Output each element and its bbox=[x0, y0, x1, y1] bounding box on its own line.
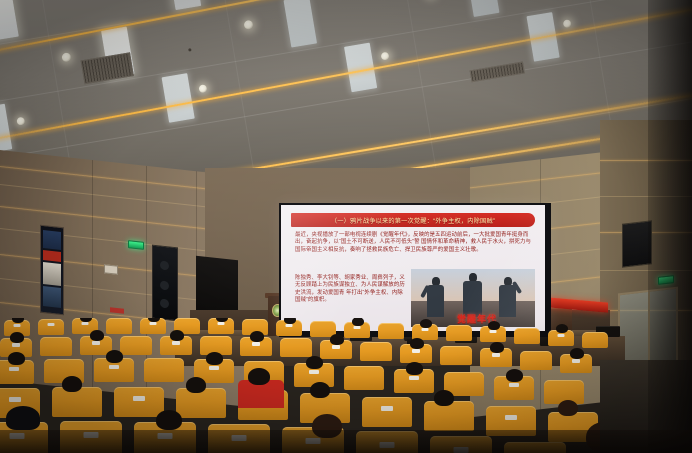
audience-head bbox=[330, 334, 344, 345]
audience-head bbox=[250, 331, 264, 342]
seat[interactable] bbox=[424, 401, 474, 431]
downlight-icon bbox=[563, 19, 572, 28]
auditorium-photo: （一）鸦片战争以来的第一次觉醒：“外争主权，内除国贼” 最近，央视播放了一部电视… bbox=[0, 0, 692, 453]
hvac-vent-icon bbox=[470, 62, 525, 83]
audience-head bbox=[90, 330, 104, 341]
audience-head bbox=[410, 338, 424, 349]
audience-head bbox=[206, 352, 223, 365]
audience-head bbox=[488, 321, 500, 330]
downlight-icon bbox=[381, 52, 390, 61]
audience-head bbox=[62, 376, 82, 392]
audience-head bbox=[506, 369, 523, 382]
seat[interactable] bbox=[520, 351, 552, 370]
slide-banner-title: （一）鸦片战争以来的第一次觉醒：“外争主权，内除国贼” bbox=[291, 213, 535, 227]
audience-head bbox=[306, 356, 323, 369]
audience-head bbox=[106, 350, 123, 363]
seat[interactable] bbox=[40, 337, 72, 356]
seat[interactable] bbox=[378, 323, 404, 339]
seat[interactable] bbox=[344, 366, 384, 390]
light-panel bbox=[162, 73, 195, 123]
audience-head bbox=[490, 342, 504, 353]
seat[interactable] bbox=[144, 358, 184, 382]
seat[interactable] bbox=[582, 332, 608, 348]
downlight-icon bbox=[61, 52, 71, 62]
seat[interactable] bbox=[280, 338, 312, 357]
wall-plaque bbox=[104, 264, 118, 275]
slide-paragraph-2: 陈独秀、李大钊等、胡家秀业、周彝列子，义无反顾踏上为民族谋独立、为人民谋解放的历… bbox=[295, 275, 405, 305]
seat[interactable] bbox=[362, 397, 412, 427]
downlight-icon bbox=[16, 117, 25, 126]
slide-paragraph-1: 最近，央视播放了一部电视连续剧《觉醒年代》，反映的是五四运动前后，一大批爱国青年… bbox=[295, 232, 533, 254]
audience-head bbox=[156, 410, 182, 430]
audience-head bbox=[8, 352, 25, 365]
side-information-display[interactable] bbox=[40, 225, 64, 316]
seat[interactable] bbox=[120, 336, 152, 355]
light-panel bbox=[466, 0, 500, 17]
downlight-icon bbox=[198, 84, 207, 93]
seat[interactable] bbox=[176, 388, 226, 418]
audience-head bbox=[406, 362, 423, 375]
seat[interactable] bbox=[440, 346, 472, 365]
audience-head bbox=[248, 368, 270, 385]
right-shadow-column bbox=[648, 0, 692, 453]
audience-head bbox=[310, 382, 330, 398]
light-panel bbox=[283, 0, 317, 48]
light-panel bbox=[168, 0, 202, 10]
seat[interactable] bbox=[114, 387, 164, 417]
audience-head bbox=[556, 324, 568, 333]
light-panel bbox=[0, 0, 19, 41]
audience-head bbox=[352, 318, 364, 326]
audience-head bbox=[10, 332, 24, 343]
poster-figure bbox=[427, 277, 444, 319]
floor-shadow bbox=[0, 430, 692, 453]
audience-head bbox=[434, 390, 454, 406]
audience-head-with-cap bbox=[6, 406, 40, 430]
light-panel bbox=[0, 104, 12, 154]
seat[interactable] bbox=[106, 318, 132, 334]
audience-head bbox=[186, 377, 206, 393]
audience-head bbox=[284, 318, 296, 324]
sprinkler-icon bbox=[188, 48, 191, 51]
exit-sign bbox=[128, 240, 144, 250]
poster-figure bbox=[499, 277, 516, 319]
speaker-column-left bbox=[152, 245, 178, 322]
seat[interactable] bbox=[514, 328, 540, 344]
seat[interactable] bbox=[360, 342, 392, 361]
downlight-icon bbox=[243, 20, 253, 30]
audience-head bbox=[558, 400, 578, 416]
audience-head bbox=[420, 319, 432, 328]
audience-head bbox=[570, 348, 584, 359]
slide-surface: （一）鸦片战争以来的第一次觉醒：“外争主权，内除国贼” 最近，央视播放了一部电视… bbox=[281, 205, 545, 331]
seat[interactable] bbox=[52, 387, 102, 417]
audience-head bbox=[170, 330, 184, 341]
projection-screen: （一）鸦片战争以来的第一次觉醒：“外争主权，内除国贼” 最近，央视播放了一部电视… bbox=[279, 203, 551, 337]
seat[interactable] bbox=[446, 325, 472, 341]
seat[interactable] bbox=[38, 319, 64, 335]
